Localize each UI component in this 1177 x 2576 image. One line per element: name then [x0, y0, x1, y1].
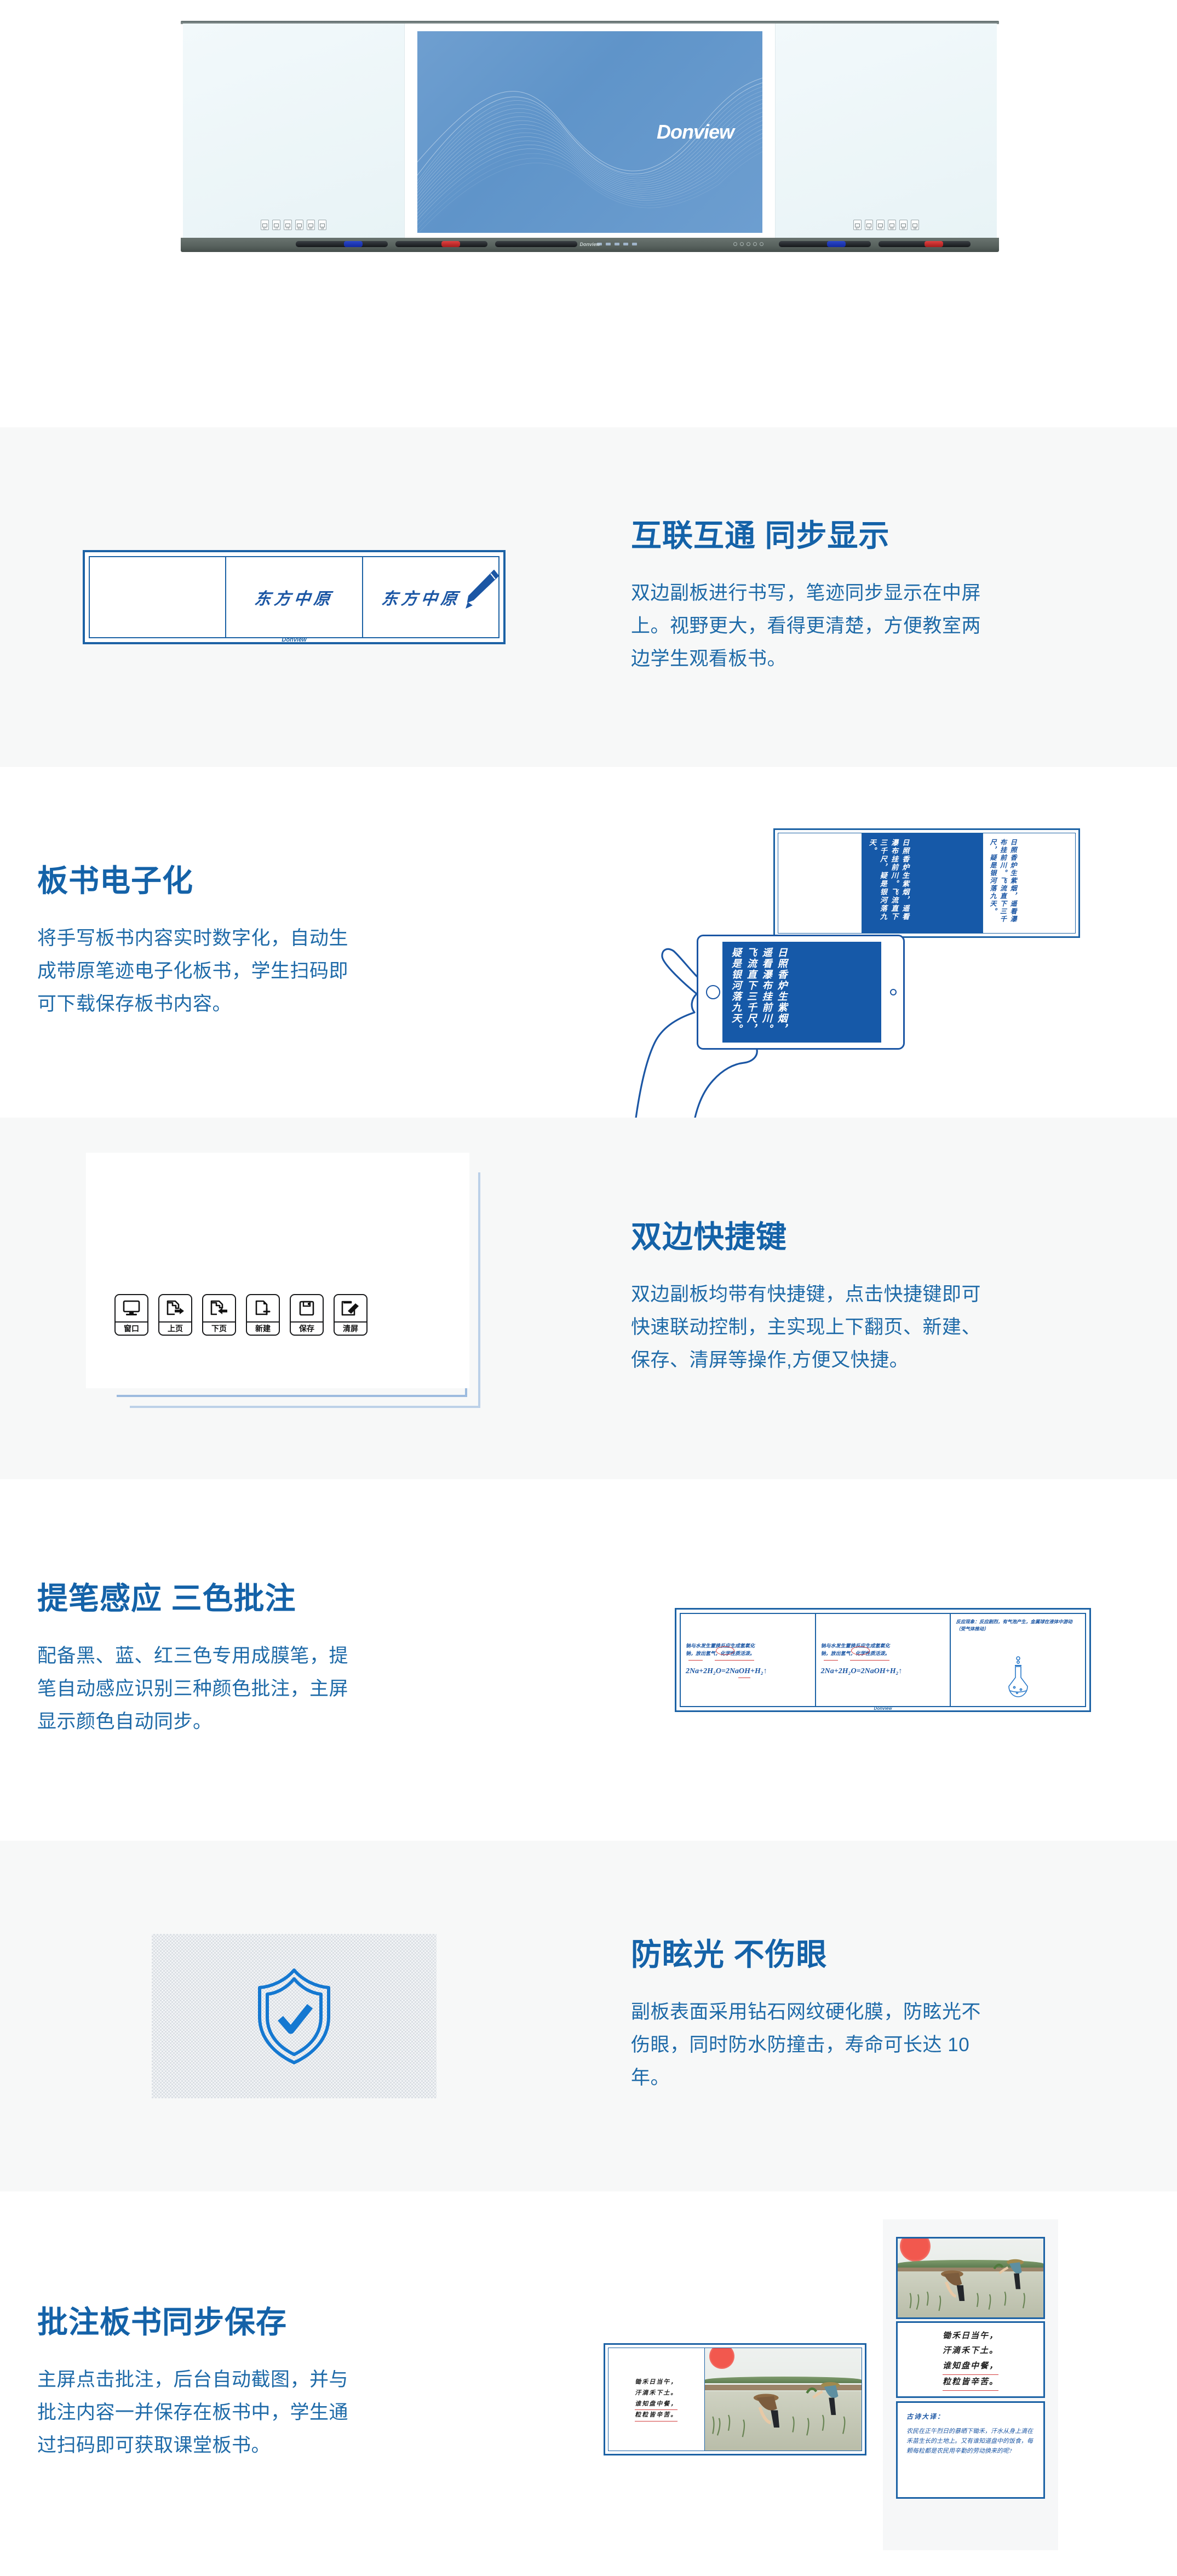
handwriting-right: 东方中原 — [381, 585, 462, 609]
mini-key-label: 下页 — [879, 228, 882, 230]
page-prev-icon — [274, 224, 279, 227]
translation-body: 农民在正午烈日的暴晒下锄禾，汗水从身上滴在禾苗生长的土地上。又有谁知道盘中的饭食… — [906, 2426, 1035, 2456]
shortcut-key-clear[interactable]: 清屏 — [334, 1294, 368, 1336]
smartphone-icon: 日照香炉生紫烟，遥看瀑布挂前川。飞流直下三千尺，疑是银河落九天。 — [697, 935, 905, 1050]
board-cell-center: 东方中原 — [226, 557, 363, 637]
section-interconnect-text: 互联互通 同步显示 双边副板进行书写，笔迹同步显示在中屏上。视野更大，看得更清楚… — [588, 519, 1177, 676]
pen-red — [395, 241, 487, 247]
shortcut-key-next[interactable]: 下页 — [202, 1294, 236, 1336]
mini-key-save[interactable]: 保存 — [899, 220, 908, 230]
hero-section: 窗口 上页 下页 新建 保存 清屏 — [0, 0, 1177, 427]
hand-phone-illustration: 日照香炉生紫烟，遥看瀑布挂前川。飞流直下三千尺，疑是银河落九天。 日照香炉生紫烟… — [609, 800, 1157, 1085]
pen-red-right — [879, 241, 971, 247]
mini-key-window[interactable]: 窗口 — [853, 220, 862, 230]
phone-camera-icon — [890, 989, 897, 995]
wide-board-poem: 锄禾日当午， 汗滴禾下土。 谁知盘中餐， 粒粒皆辛苦。 — [635, 2377, 678, 2422]
page-new-icon — [247, 1295, 279, 1321]
left-sub-panel: 窗口 上页 下页 新建 保存 清屏 — [183, 24, 405, 240]
mini-key-label: 上页 — [867, 228, 870, 230]
section-digitize-art: 日照香炉生紫烟，遥看瀑布挂前川。飞流直下三千尺，疑是银河落九天。 日照香炉生紫烟… — [589, 800, 1177, 1085]
section-body: 主屏点击批注，后台自动截图，并与批注内容一并保存在板书中，学生通过扫码即可获取课… — [37, 2363, 366, 2463]
page-next-icon — [878, 224, 883, 227]
section-title: 双边快捷键 — [631, 1220, 1144, 1254]
save-floppy-icon — [901, 224, 906, 227]
shortcut-key-window[interactable]: 窗口 — [114, 1294, 148, 1336]
clear-screen-icon — [320, 224, 325, 227]
shortcut-key-label: 上页 — [159, 1321, 191, 1335]
shortcut-key-prev[interactable]: 上页 — [158, 1294, 192, 1336]
tray-brand-logo: Donview — [579, 242, 600, 247]
mini-key-label: 保存 — [309, 228, 312, 230]
mini-key-window[interactable]: 窗口 — [261, 220, 269, 230]
section-three-color-pen-text: 提笔感应 三色批注 配备黑、蓝、红三色专用成膜笔，提笔自动感应识别三种颜色批注，… — [0, 1582, 589, 1738]
section-digitize: 板书电子化 将手写板书内容实时数字化，自动生成带原笔迹电子化板书，学生扫码即可下… — [0, 767, 1177, 1118]
red-circle-annotation — [851, 1646, 870, 1655]
lesson-board-wide: 锄禾日当午， 汗滴禾下土。 谁知盘中餐， 粒粒皆辛苦。 — [604, 2343, 866, 2455]
save-floppy-icon — [291, 1295, 323, 1321]
shortcut-key-card-illustration: 窗口 上页 — [64, 1156, 524, 1441]
board-cell-left — [90, 557, 226, 637]
page-prev-icon — [866, 224, 871, 227]
phone-home-button[interactable] — [706, 985, 720, 999]
section-annotation-save-text: 批注板书同步保存 主屏点击批注，后台自动截图，并与批注内容一并保存在板书中，学生… — [0, 2305, 589, 2462]
save-floppy-icon — [308, 224, 313, 227]
section-body: 副板表面采用钻石网纹硬化膜，防眩光不伤眼，同时防水防撞击，寿命可长达 10 年。 — [631, 1996, 981, 2095]
chemboard-brand-logo: Donview — [874, 1706, 892, 1711]
chem-note-1: 钠与水发生置换反应生成氢氧化 钠，放出氢气，化学性质活泼。 — [686, 1642, 810, 1657]
tall-card-poem-panel: 锄禾日当午， 汗滴禾下土。 谁知盘中餐， 粒粒皆辛苦。 — [896, 2321, 1045, 2398]
phone-poem: 日照香炉生紫烟，遥看瀑布挂前川。飞流直下三千尺，疑是银河落九天。 — [728, 947, 789, 1037]
mini-key-clear[interactable]: 清屏 — [318, 220, 326, 230]
diamond-texture-panel — [152, 1934, 437, 2098]
mini-key-new[interactable]: 新建 — [295, 220, 303, 230]
shortcut-key-label: 下页 — [203, 1321, 235, 1335]
mini-key-clear[interactable]: 清屏 — [911, 220, 919, 230]
pen-blue-cap — [344, 241, 363, 247]
translation-title: 古诗大译： — [906, 2412, 1035, 2421]
pen-blue — [296, 241, 388, 247]
section-digitize-text: 板书电子化 将手写板书内容实时数字化，自动生成带原笔迹电子化板书，学生扫码即可下… — [0, 864, 589, 1021]
mini-key-label: 上页 — [274, 228, 278, 230]
pen-blue-right — [779, 241, 871, 247]
board-cell-right: 东方中原 — [363, 557, 498, 637]
section-title: 互联互通 同步显示 — [631, 519, 1144, 553]
page-next-icon — [285, 224, 290, 227]
rear-board-cell-center: 日照香炉生紫烟，遥看瀑布挂前川。飞流直下三千尺，疑是银河落九天。 — [862, 833, 984, 933]
section-title: 防眩光 不伤眼 — [631, 1938, 1144, 1972]
section-shortcuts-text: 双边快捷键 双边副板均带有快捷键，点击快捷键即可快速联动控制，主实现上下翻页、新… — [588, 1220, 1177, 1377]
mini-key-prev[interactable]: 上页 — [272, 220, 280, 230]
pen-red-cap — [441, 241, 460, 247]
left-panel-shortcut-keys[interactable]: 窗口 上页 下页 新建 保存 清屏 — [261, 220, 326, 230]
handwriting-center: 东方中原 — [254, 585, 335, 609]
card-sheet: 窗口 上页 — [86, 1153, 469, 1388]
tall-card-photo — [896, 2237, 1045, 2319]
mini-key-label: 窗口 — [263, 228, 266, 230]
section-interconnect: 东方中原 东方中原 Donview — [0, 427, 1177, 767]
section-body: 将手写板书内容实时数字化，自动生成带原笔迹电子化板书，学生扫码即可下载保存板书内… — [37, 922, 355, 1021]
pen-blue-cap — [827, 241, 846, 247]
rear-poem-center: 日照香炉生紫烟，遥看瀑布挂前川。飞流直下三千尺，疑是银河落九天。 — [866, 839, 911, 928]
screen-brand-logo: Donview — [657, 121, 734, 144]
mini-key-next[interactable]: 下页 — [284, 220, 292, 230]
mini-key-label: 清屏 — [320, 228, 324, 230]
shortcut-key-save[interactable]: 保存 — [290, 1294, 324, 1336]
chem-note-2: 钠与水发生置换反应生成氢氧化 钠，放出氢气，化学性质活泼。 — [821, 1642, 945, 1657]
section-title: 板书电子化 — [37, 864, 556, 898]
mini-key-prev[interactable]: 上页 — [865, 220, 873, 230]
mini-key-next[interactable]: 下页 — [876, 220, 885, 230]
product-feature-page: 窗口 上页 下页 新建 保存 清屏 — [0, 0, 1177, 2576]
pen-black — [495, 241, 577, 247]
farmers-figures — [898, 2239, 1043, 2317]
shortcut-keys-row[interactable]: 窗口 上页 — [114, 1294, 368, 1336]
chem-observation: 反应现象：反应剧烈，有气泡产生，金属球在液体中游动（受气体推动） — [956, 1618, 1080, 1633]
shortcut-key-label: 新建 — [247, 1321, 279, 1335]
shortcut-key-label: 窗口 — [116, 1321, 147, 1335]
right-panel-shortcut-keys[interactable]: 窗口 上页 下页 新建 保存 清屏 — [853, 220, 919, 230]
tall-card-poem: 锄禾日当午， 汗滴禾下土。 谁知盘中餐， 粒粒皆辛苦。 — [943, 2329, 998, 2391]
tall-card-translation-panel: 古诗大译： 农民在正午烈日的暴晒下锄禾，汗水从身上滴在禾苗生长的土地上。又有谁知… — [896, 2401, 1045, 2499]
chem-equation-1: 2Na+2H₂O=2NaOH+H₂↑ — [686, 1667, 810, 1676]
shield-check-icon — [253, 1966, 335, 2067]
pen-tray: Donview — [181, 238, 999, 252]
shortcut-key-label: 清屏 — [335, 1321, 366, 1335]
mini-key-label: 新建 — [297, 228, 301, 230]
section-annotation-save: 批注板书同步保存 主屏点击批注，后台自动截图，并与批注内容一并保存在板书中，学生… — [0, 2191, 1177, 2576]
board-body: 窗口 上页 下页 新建 保存 清屏 — [183, 24, 997, 240]
section-anti-glare-text: 防眩光 不伤眼 副板表面采用钻石网纹硬化膜，防眩光不伤眼，同时防水防撞击，寿命可… — [588, 1938, 1177, 2094]
red-double-underline — [738, 1678, 750, 1678]
main-display-screen: Donview — [417, 31, 762, 233]
section-body: 双边副板进行书写，笔迹同步显示在中屏上。视野更大，看得更清楚，方便教室两边学生观… — [631, 577, 981, 676]
red-underline-annotation — [688, 1660, 703, 1661]
three-panel-board-illustration: 东方中原 东方中原 Donview — [83, 550, 506, 644]
phone-screen: 日照香炉生紫烟，遥看瀑布挂前川。飞流直下三千尺，疑是银河落九天。 — [722, 942, 881, 1043]
red-wavy-annotation — [715, 1660, 754, 1661]
tray-ports[interactable] — [733, 242, 763, 246]
section-three-color-pen: 提笔感应 三色批注 配备黑、蓝、红三色专用成膜笔，提笔自动感应识别三种颜色批注，… — [0, 1479, 1177, 1841]
section-annotation-save-art: 锄禾日当午， 汗滴禾下土。 谁知盘中餐， 粒粒皆辛苦。 — [589, 2214, 1177, 2554]
section-body: 配备黑、蓝、红三色专用成膜笔，提笔自动感应识别三种颜色批注，主屏显示颜色自动同步… — [37, 1640, 366, 1739]
chem-equation-2: 2Na+2H₂O=2NaOH+H₂↑ — [821, 1667, 945, 1676]
red-circle-annotation — [716, 1646, 734, 1655]
mini-key-label: 保存 — [902, 228, 905, 230]
tray-indicator-lights — [597, 243, 637, 245]
section-three-color-pen-art: 钠与水发生置换反应生成氢氧化 钠，放出氢气，化学性质活泼。 2Na+2H₂O=2… — [589, 1608, 1177, 1712]
shortcut-key-label: 保存 — [291, 1321, 323, 1335]
mini-key-label: 新建 — [890, 228, 893, 230]
shortcut-key-new[interactable]: 新建 — [246, 1294, 280, 1336]
pen-red-cap — [925, 241, 943, 247]
chem-cell-2: 钠与水发生置换反应生成氢氧化 钠，放出氢气，化学性质活泼。 2Na+2H₂O=2… — [816, 1614, 951, 1706]
whiteboard-product-image: 窗口 上页 下页 新建 保存 清屏 — [181, 21, 999, 262]
section-anti-glare: 防眩光 不伤眼 副板表面采用钻石网纹硬化膜，防眩光不伤眼，同时防水防撞击，寿命可… — [0, 1841, 1177, 2191]
mini-key-label: 窗口 — [856, 228, 859, 230]
page-next-icon — [203, 1295, 235, 1321]
lesson-cards-illustration: 锄禾日当午， 汗滴禾下土。 谁知盘中餐， 粒粒皆辛苦。 — [609, 2214, 1157, 2554]
farmers-figures — [705, 2348, 862, 2451]
wide-board-photo: Donview — [705, 2348, 862, 2451]
section-shortcuts: 窗口 上页 — [0, 1118, 1177, 1479]
right-sub-panel: 窗口 上页 下页 新建 保存 清屏 — [775, 24, 997, 240]
section-title: 提笔感应 三色批注 — [37, 1582, 556, 1616]
rear-board-cell-right: 日照香炉生紫烟，遥看瀑布挂前川。飞流直下三千尺，疑是银河落九天。 — [983, 833, 1075, 933]
section-body: 双边副板均带有快捷键，点击快捷键即可快速联动控制，主实现上下翻页、新建、保存、清… — [631, 1278, 981, 1377]
page-new-icon — [297, 224, 302, 227]
section-title: 批注板书同步保存 — [37, 2305, 556, 2339]
section-shortcuts-art: 窗口 上页 — [0, 1156, 588, 1441]
wide-board-poem-cell: 锄禾日当午， 汗滴禾下土。 谁知盘中餐， 粒粒皆辛苦。 — [608, 2348, 705, 2451]
clear-screen-icon — [912, 224, 917, 227]
mini-key-save[interactable]: 保存 — [307, 220, 315, 230]
flask-icon — [1002, 1656, 1034, 1703]
clear-screen-icon — [335, 1295, 366, 1321]
section-interconnect-art: 东方中原 东方中原 Donview — [0, 550, 588, 644]
monitor-icon — [855, 224, 860, 227]
monitor-icon — [262, 224, 267, 227]
page-new-icon — [889, 224, 894, 227]
mini-key-label: 下页 — [286, 228, 289, 230]
chemistry-board-illustration: 钠与水发生置换反应生成氢氧化 钠，放出氢气，化学性质活泼。 2Na+2H₂O=2… — [675, 1608, 1091, 1712]
rear-poem-right: 日照香炉生紫烟，遥看瀑布挂前川。飞流直下三千尺，疑是银河落九天。 — [987, 839, 1018, 928]
red-wavy-annotation — [850, 1660, 889, 1661]
red-underline-annotation — [824, 1660, 838, 1661]
mini-key-label: 清屏 — [913, 228, 916, 230]
board-brand-logo: Donview — [282, 637, 306, 643]
chem-cell-3: 反应现象：反应剧烈，有气泡产生，金属球在液体中游动（受气体推动） — [951, 1614, 1085, 1706]
stylus-pen-icon — [455, 567, 502, 614]
chem-cell-1: 钠与水发生置换反应生成氢氧化 钠，放出氢气，化学性质活泼。 2Na+2H₂O=2… — [681, 1614, 816, 1706]
page-prev-icon — [159, 1295, 191, 1321]
center-main-screen-panel: Donview — [405, 24, 775, 240]
mini-key-new[interactable]: 新建 — [888, 220, 896, 230]
section-anti-glare-art — [0, 1934, 588, 2098]
monitor-icon — [116, 1295, 147, 1321]
